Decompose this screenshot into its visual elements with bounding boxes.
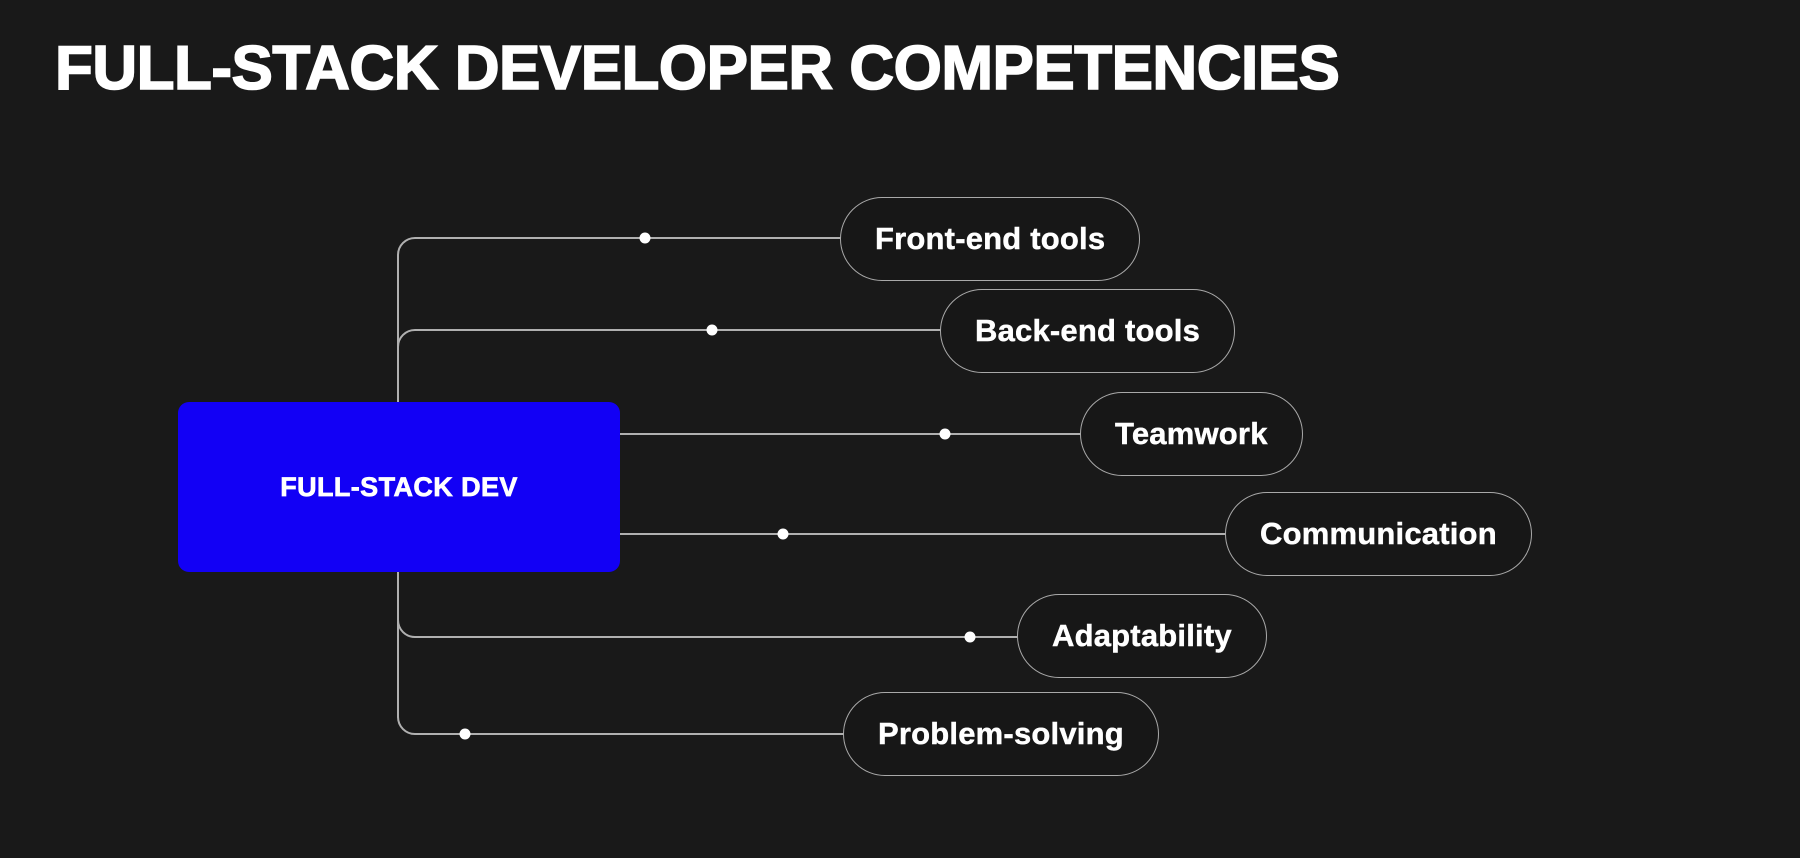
branch-node-back-end-tools[interactable]: Back-end tools — [940, 289, 1235, 373]
central-node-full-stack-dev[interactable]: FULL-STACK DEV — [178, 402, 620, 572]
branch-node-front-end-tools[interactable]: Front-end tools — [840, 197, 1140, 281]
branch-node-problem-solving[interactable]: Problem-solving — [843, 692, 1159, 776]
connector-branch-back-end-tools — [398, 330, 946, 347]
connector-dot-front-end-tools — [640, 233, 651, 244]
branch-node-label: Front-end tools — [875, 221, 1105, 257]
connector-dot-adaptability — [965, 632, 976, 643]
branch-node-label: Adaptability — [1052, 618, 1232, 654]
mindmap-canvas: FULL-STACK DEVELOPER COMPETENCIES FULL-S… — [0, 0, 1800, 858]
branch-node-label: Problem-solving — [878, 716, 1124, 752]
connector-dot-communication — [778, 529, 789, 540]
branch-node-label: Back-end tools — [975, 313, 1200, 349]
connector-dot-back-end-tools — [707, 325, 718, 336]
central-node-label: FULL-STACK DEV — [280, 472, 518, 503]
connector-dot-teamwork — [940, 429, 951, 440]
connector-branch-adaptability — [398, 620, 1023, 637]
branch-node-communication[interactable]: Communication — [1225, 492, 1532, 576]
branch-node-teamwork[interactable]: Teamwork — [1080, 392, 1303, 476]
connector-dot-problem-solving — [460, 729, 471, 740]
branch-node-label: Teamwork — [1115, 416, 1268, 452]
branch-node-label: Communication — [1260, 516, 1497, 552]
branch-node-adaptability[interactable]: Adaptability — [1017, 594, 1267, 678]
connector-branch-front-end-tools — [398, 238, 846, 255]
